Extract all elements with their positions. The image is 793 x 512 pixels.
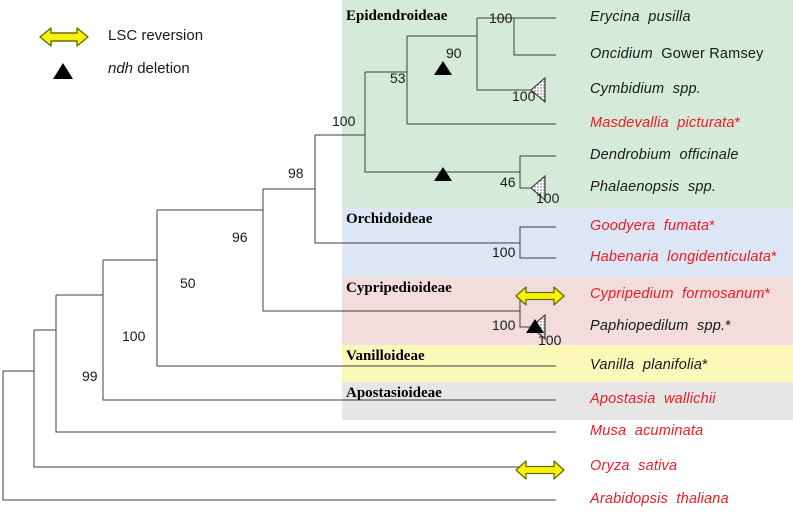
taxon-epithet: fumata <box>655 218 709 234</box>
ndh-deletion-text: deletion <box>133 60 190 77</box>
taxon-genus: Masdevallia <box>590 115 669 131</box>
taxon-epithet: officinale <box>671 147 739 163</box>
clade-name-vanilloideae: Vanilloideae <box>346 348 425 365</box>
taxon-label-cymbidium: Cymbidium spp. <box>590 82 701 97</box>
taxon-epithet: acuminata <box>626 423 703 439</box>
bootstrap-node-cypripedioideae: 100 <box>492 317 515 333</box>
taxon-label-vanilla: Vanilla planifolia* <box>590 358 708 373</box>
taxon-asterisk: * <box>702 357 708 373</box>
taxon-label-apostasia: Apostasia wallichii <box>590 392 716 407</box>
bootstrap-node-orchidaceae: 100 <box>122 328 145 344</box>
clade-name-apostasioideae: Apostasioideae <box>346 385 442 402</box>
clade-name-epidendroideae: Epidendroideae <box>346 8 447 25</box>
taxon-epithet: sativa <box>630 458 678 474</box>
lsc-reversion-legend-label: LSC reversion <box>108 27 203 44</box>
bootstrap-node-phalaenopsis-collapsed: 100 <box>536 190 559 206</box>
taxon-asterisk: * <box>725 318 731 334</box>
lsc-reversion-marker <box>516 461 564 479</box>
taxon-label-goodyera: Goodyera fumata* <box>590 219 715 234</box>
bootstrap-node-paphiopedilum-collapsed: 100 <box>538 332 561 348</box>
bootstrap-node-monocots: 99 <box>82 368 98 384</box>
taxon-genus: Goodyera <box>590 218 655 234</box>
phylogenetic-tree-figure: EpidendroideaeOrchidoideaeCypripedioidea… <box>0 0 793 512</box>
taxon-label-cypripedium: Cypripedium formosanum* <box>590 287 770 302</box>
taxon-genus: Cymbidium <box>590 81 664 97</box>
taxon-epithet: formosanum <box>674 286 765 302</box>
taxon-epithet: wallichii <box>655 391 715 407</box>
taxon-label-masdevallia: Masdevallia picturata* <box>590 116 740 131</box>
taxon-label-arabidopsis: Arabidopsis thaliana <box>590 492 729 507</box>
taxon-genus: Habenaria <box>590 249 659 265</box>
taxon-epithet: thaliana <box>668 491 729 507</box>
taxon-genus: Oryza <box>590 458 630 474</box>
taxon-label-habenaria: Habenaria longidenticulata* <box>590 250 777 265</box>
lsc-reversion-marker <box>516 287 564 305</box>
taxon-epithet: spp. <box>664 81 701 97</box>
bootstrap-node-epi-orchid-cyp: 96 <box>232 229 248 245</box>
taxon-epithet: longidenticulata <box>659 249 771 265</box>
ndh-deletion-marker <box>434 61 452 75</box>
taxon-epithet: picturata <box>669 115 735 131</box>
ndh-gene-name: ndh <box>108 60 133 77</box>
bootstrap-node-dendrobium-phalaenopsis: 46 <box>500 174 516 190</box>
bootstrap-node-erycina-oncidium: 100 <box>489 10 512 26</box>
bootstrap-node-orchidoideae: 100 <box>492 244 515 260</box>
taxon-epithet: planifolia <box>634 357 702 373</box>
ndh-deletion-legend-label: ndh deletion <box>108 60 190 77</box>
taxon-genus: Paphiopedilum <box>590 318 689 334</box>
lsc-reversion-legend-arrow-icon <box>38 24 98 50</box>
bootstrap-node-epi-orchid: 98 <box>288 165 304 181</box>
taxon-genus: Vanilla <box>590 357 634 373</box>
taxon-epithet: pusilla <box>640 9 691 25</box>
bootstrap-node-epidendroid-upper: 53 <box>390 70 406 86</box>
taxon-label-dendrobium: Dendrobium officinale <box>590 148 739 163</box>
bootstrap-node-cymbidium-collapsed: 100 <box>512 88 535 104</box>
taxon-genus: Arabidopsis <box>590 491 668 507</box>
taxon-label-paphiopedilum: Paphiopedilum spp.* <box>590 319 731 334</box>
taxon-asterisk: * <box>771 249 777 265</box>
taxon-genus: Phalaenopsis <box>590 179 679 195</box>
taxon-genus: Apostasia <box>590 391 655 407</box>
taxon-label-erycina: Erycina pusilla <box>590 10 691 25</box>
taxon-genus: Musa <box>590 423 626 439</box>
clade-name-cypripedioideae: Cypripedioideae <box>346 280 452 297</box>
taxon-genus: Cypripedium <box>590 286 674 302</box>
taxon-genus: Dendrobium <box>590 147 671 163</box>
taxon-epithet: spp. <box>679 179 716 195</box>
bootstrap-node-epidendroideae: 100 <box>332 113 355 129</box>
ndh-deletion-marker <box>434 167 452 181</box>
taxon-genus: Oncidium <box>590 46 653 62</box>
bootstrap-node-orchidaceae-core: 50 <box>180 275 196 291</box>
taxon-label-phalaenopsis: Phalaenopsis spp. <box>590 180 716 195</box>
bootstrap-node-oncidioid-cymbidium: 90 <box>446 45 462 61</box>
taxon-asterisk: * <box>765 286 771 302</box>
taxon-label-musa: Musa acuminata <box>590 424 703 439</box>
taxon-cultivar: Gower Ramsey <box>653 46 764 62</box>
taxon-label-oryza: Oryza sativa <box>590 459 677 474</box>
taxon-asterisk: * <box>735 115 741 131</box>
taxon-asterisk: * <box>709 218 715 234</box>
taxon-epithet: spp. <box>689 318 726 334</box>
taxon-genus: Erycina <box>590 9 640 25</box>
clade-name-orchidoideae: Orchidoideae <box>346 211 432 228</box>
taxon-label-oncidium: Oncidium Gower Ramsey <box>590 47 764 62</box>
ndh-deletion-legend-triangle-icon <box>52 60 78 82</box>
